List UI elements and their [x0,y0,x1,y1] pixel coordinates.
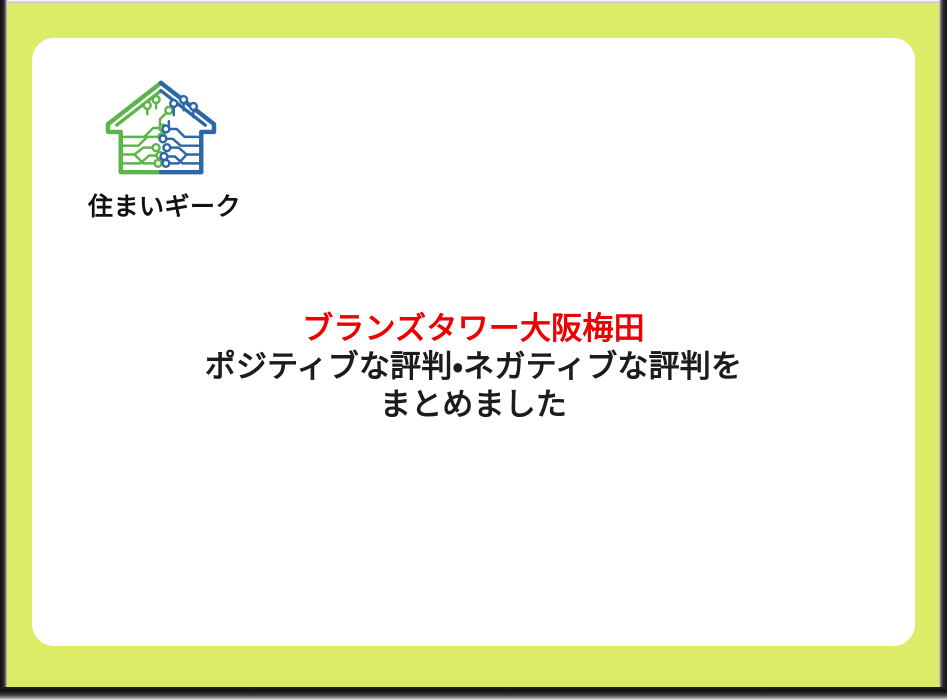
scan-edge-left [0,0,7,700]
headline-line-property: ブランズタワー大阪梅田 [32,310,915,348]
content-card: 住まいギーク ブランズタワー大阪梅田 ポジティブな評判・ネガティブな評判を まと… [32,38,915,646]
circuit-house-logo-icon [102,74,220,182]
scan-edge-right [939,0,947,700]
slide-root: 住まいギーク ブランズタワー大阪梅田 ポジティブな評判・ネガティブな評判を まと… [0,0,947,700]
headline-line-summary: まとめました [32,386,915,424]
scan-edge-top [0,0,947,3]
headline-block: ブランズタワー大阪梅田 ポジティブな評判・ネガティブな評判を まとめました [32,310,915,424]
brand-name: 住まいギーク [88,194,348,219]
scan-edge-bottom [0,687,947,700]
brand-block: 住まいギーク [88,74,348,219]
headline-line-subject: ポジティブな評判・ネガティブな評判を [32,348,915,386]
